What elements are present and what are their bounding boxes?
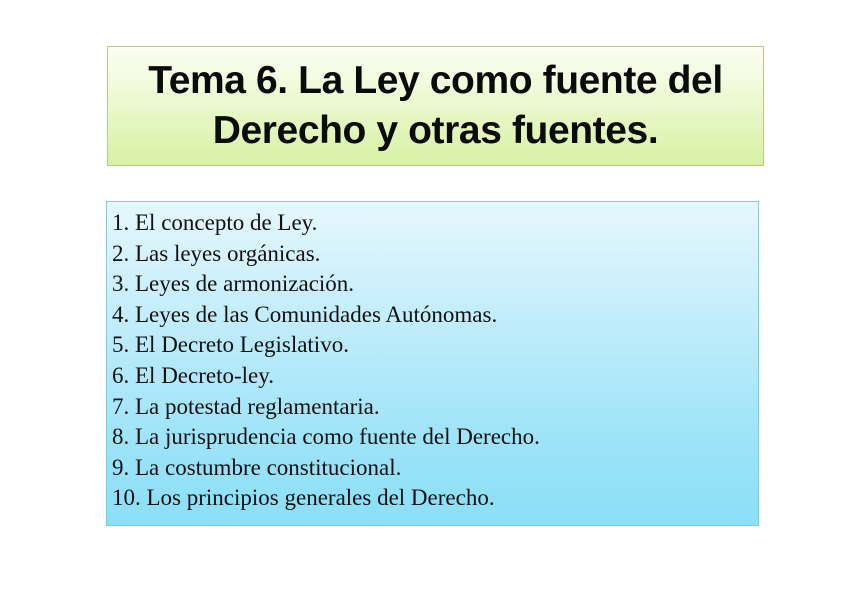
page-title-line-2: Derecho y otras fuentes. xyxy=(213,106,659,156)
list-item: 1. El concepto de Ley. xyxy=(112,208,758,239)
list-item: 7. La potestad reglamentaria. xyxy=(112,392,758,423)
list-item: 3. Leyes de armonización. xyxy=(112,269,758,300)
list-item: 4. Leyes de las Comunidades Autónomas. xyxy=(112,300,758,331)
contents-list: 1. El concepto de Ley. 2. Las leyes orgá… xyxy=(112,208,758,514)
list-item: 8. La jurisprudencia como fuente del Der… xyxy=(112,422,758,453)
list-item: 9. La costumbre constitucional. xyxy=(112,453,758,484)
contents-box: 1. El concepto de Ley. 2. Las leyes orgá… xyxy=(106,201,759,526)
list-item: 2. Las leyes orgánicas. xyxy=(112,239,758,270)
list-item: 6. El Decreto-ley. xyxy=(112,361,758,392)
list-item: 10. Los principios generales del Derecho… xyxy=(112,483,758,514)
slide-canvas: Tema 6. La Ley como fuente del Derecho y… xyxy=(0,0,848,599)
list-item: 5. El Decreto Legislativo. xyxy=(112,330,758,361)
page-title-line-1: Tema 6. La Ley como fuente del xyxy=(148,56,723,106)
title-box: Tema 6. La Ley como fuente del Derecho y… xyxy=(107,46,764,166)
